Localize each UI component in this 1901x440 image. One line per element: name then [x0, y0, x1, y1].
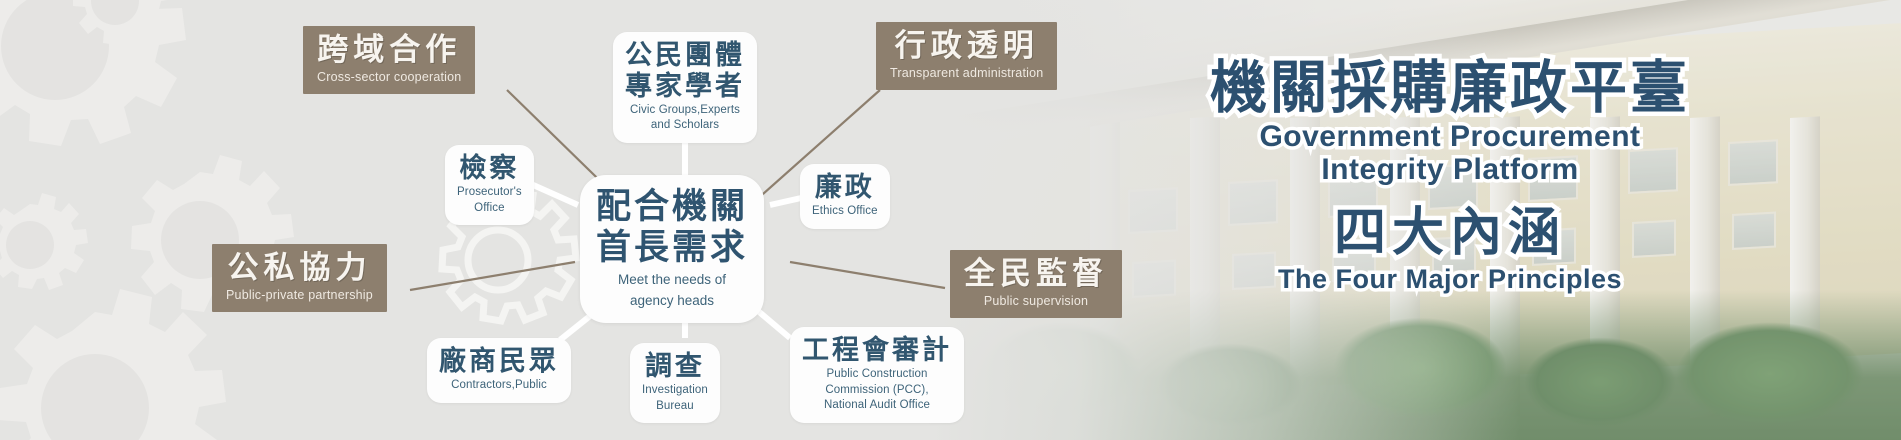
- center-zh-line1: 配合機關: [596, 187, 748, 228]
- node-zh-label: 調查: [642, 351, 708, 382]
- node-en-label: Commission (PCC),: [802, 384, 952, 398]
- node-en-label: Contractors,Public: [439, 379, 559, 393]
- node-pcc-national-audit-office[interactable]: 工程會審計 Public Construction Commission (PC…: [790, 327, 964, 423]
- node-en-label: National Audit Office: [802, 399, 952, 413]
- node-zh-label: 廠商民眾: [439, 346, 559, 377]
- headline-block: 機關採購廉政平臺 Government Procurement Integrit…: [1030, 58, 1870, 295]
- node-cross-sector-cooperation[interactable]: 跨域合作 Cross-sector cooperation: [303, 26, 475, 94]
- node-meet-agency-head-needs[interactable]: 配合機關 首長需求 Meet the needs of agency heads: [580, 175, 764, 323]
- node-zh-label: 跨域合作: [317, 33, 461, 68]
- node-en-label: Office: [457, 202, 522, 216]
- node-zh-label: 公私協力: [226, 251, 373, 286]
- node-zh-label: 專家學者: [625, 71, 745, 102]
- node-en-label: Transparent administration: [890, 66, 1043, 81]
- center-en-line1: Meet the needs of: [596, 272, 748, 288]
- node-prosecutors-office[interactable]: 檢察 Prosecutor's Office: [445, 145, 534, 225]
- procurement-integrity-banner: 跨域合作 Cross-sector cooperation 行政透明 Trans…: [0, 0, 1901, 440]
- node-en-label: Cross-sector cooperation: [317, 70, 461, 85]
- node-en-label: and Scholars: [625, 119, 745, 133]
- node-en-label: Civic Groups,Experts: [625, 104, 745, 118]
- headline-zh-subtitle: 四大內涵: [1030, 203, 1870, 264]
- node-zh-label: 廉政: [812, 172, 878, 203]
- center-zh-line2: 首長需求: [596, 228, 748, 269]
- node-zh-label: 行政透明: [890, 29, 1043, 64]
- node-en-label: Public supervision: [964, 294, 1108, 309]
- node-investigation-bureau[interactable]: 調查 Investigation Bureau: [630, 343, 720, 423]
- headline-en-title-line1: Government Procurement: [1030, 120, 1870, 154]
- center-en-line2: agency heads: [596, 293, 748, 309]
- node-civic-groups-experts-scholars[interactable]: 公民團體 專家學者 Civic Groups,Experts and Schol…: [613, 32, 757, 143]
- node-contractors-public[interactable]: 廠商民眾 Contractors,Public: [427, 338, 571, 403]
- headline-en-subtitle: The Four Major Principles: [1030, 264, 1870, 295]
- node-en-label: Public Construction: [802, 368, 952, 382]
- node-public-private-partnership[interactable]: 公私協力 Public-private partnership: [212, 244, 387, 312]
- node-zh-label: 工程會審計: [802, 335, 952, 366]
- node-ethics-office[interactable]: 廉政 Ethics Office: [800, 164, 890, 229]
- node-en-label: Ethics Office: [812, 205, 878, 219]
- node-zh-label: 公民團體: [625, 40, 745, 71]
- node-en-label: Public-private partnership: [226, 288, 373, 303]
- node-en-label: Investigation: [642, 384, 708, 398]
- headline-en-title-line2: Integrity Platform: [1030, 153, 1870, 187]
- node-en-label: Prosecutor's: [457, 186, 522, 200]
- node-zh-label: 檢察: [457, 153, 522, 184]
- headline-zh-title: 機關採購廉政平臺: [1030, 58, 1870, 120]
- node-en-label: Bureau: [642, 400, 708, 414]
